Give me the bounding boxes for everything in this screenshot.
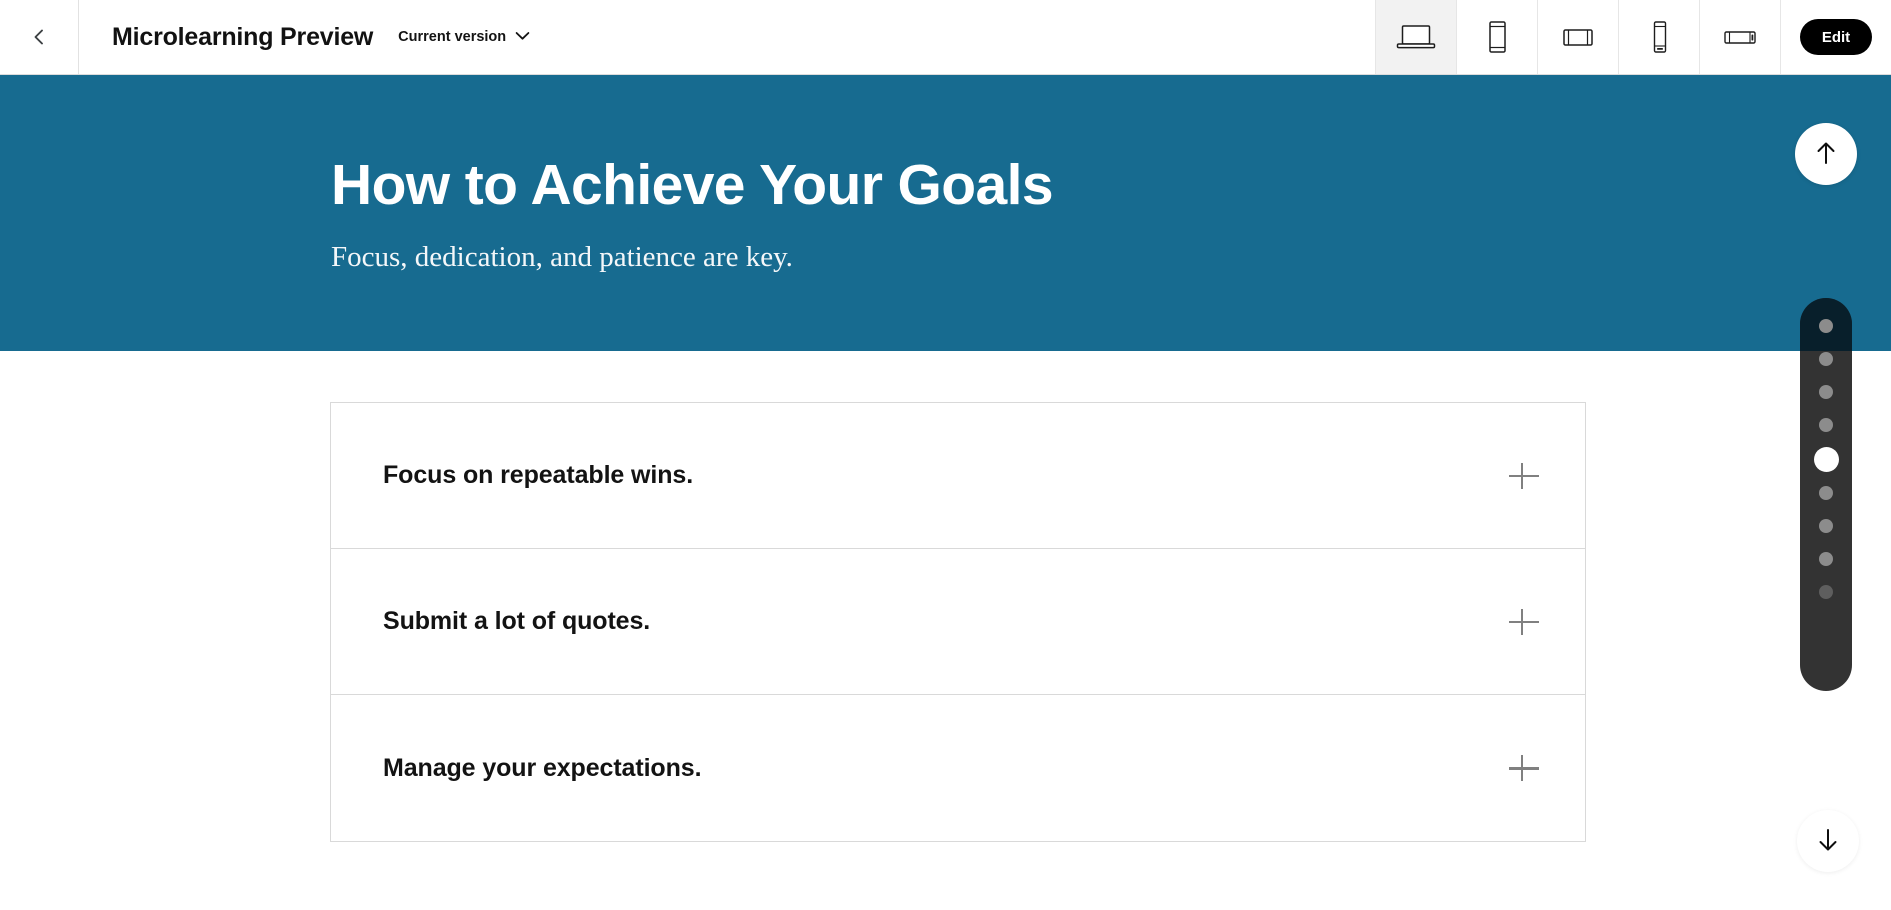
accordion-item-label: Manage your expectations. [383, 754, 701, 783]
accordion-item[interactable]: Focus on repeatable wins. [331, 403, 1585, 549]
hero-subtitle: Focus, dedication, and patience are key. [331, 239, 1053, 277]
plus-icon[interactable] [1507, 605, 1541, 639]
scroll-down-button[interactable] [1797, 810, 1859, 872]
page-dots-rail [1800, 298, 1852, 691]
tablet-landscape-icon [1559, 22, 1597, 52]
phone-landscape-icon [1722, 24, 1758, 50]
arrow-down-icon [1815, 826, 1841, 857]
hero-text-block: How to Achieve Your Goals Focus, dedicat… [331, 155, 1053, 276]
version-selector[interactable]: Current version [398, 28, 530, 46]
arrow-up-icon [1813, 139, 1839, 170]
page-dot[interactable] [1819, 486, 1833, 500]
device-option-phone-landscape[interactable] [1699, 0, 1780, 74]
device-option-tablet-portrait[interactable] [1456, 0, 1537, 74]
page-dot[interactable] [1819, 385, 1833, 399]
device-option-tablet-landscape[interactable] [1537, 0, 1618, 74]
chevron-left-icon [29, 27, 49, 47]
chevron-down-icon [515, 28, 530, 46]
edit-zone: Edit [1780, 0, 1891, 74]
tablet-portrait-icon [1481, 19, 1513, 55]
scroll-up-button[interactable] [1795, 123, 1857, 185]
page-dot[interactable] [1819, 552, 1833, 566]
accordion-item[interactable]: Manage your expectations. [331, 695, 1585, 841]
hero-title: How to Achieve Your Goals [331, 155, 1053, 217]
accordion-item[interactable]: Submit a lot of quotes. [331, 549, 1585, 695]
accordion-item-label: Focus on repeatable wins. [383, 461, 693, 490]
content-area: Focus on repeatable wins. Submit a lot o… [0, 351, 1891, 910]
page-dot[interactable] [1819, 319, 1833, 333]
laptop-icon [1395, 21, 1437, 53]
plus-icon[interactable] [1507, 751, 1541, 785]
page-dot[interactable] [1819, 519, 1833, 533]
page-dot-active[interactable] [1814, 447, 1839, 472]
preview-app: Microlearning Preview Current version [0, 0, 1891, 910]
accordion-list: Focus on repeatable wins. Submit a lot o… [330, 402, 1586, 842]
device-option-phone-portrait[interactable] [1618, 0, 1699, 74]
device-option-laptop[interactable] [1375, 0, 1456, 74]
top-toolbar: Microlearning Preview Current version [0, 0, 1891, 75]
plus-icon[interactable] [1507, 459, 1541, 493]
page-dot[interactable] [1819, 352, 1833, 366]
version-label: Current version [398, 29, 506, 45]
back-button[interactable] [0, 0, 79, 74]
page-dot[interactable] [1819, 585, 1833, 599]
device-switcher [1375, 0, 1780, 74]
title-zone: Microlearning Preview Current version [79, 0, 1375, 74]
page-dot[interactable] [1819, 418, 1833, 432]
hero-banner: How to Achieve Your Goals Focus, dedicat… [0, 75, 1891, 351]
accordion-item-label: Submit a lot of quotes. [383, 607, 650, 636]
edit-button[interactable]: Edit [1800, 19, 1872, 55]
page-title: Microlearning Preview [112, 23, 373, 52]
phone-portrait-icon [1646, 19, 1672, 55]
